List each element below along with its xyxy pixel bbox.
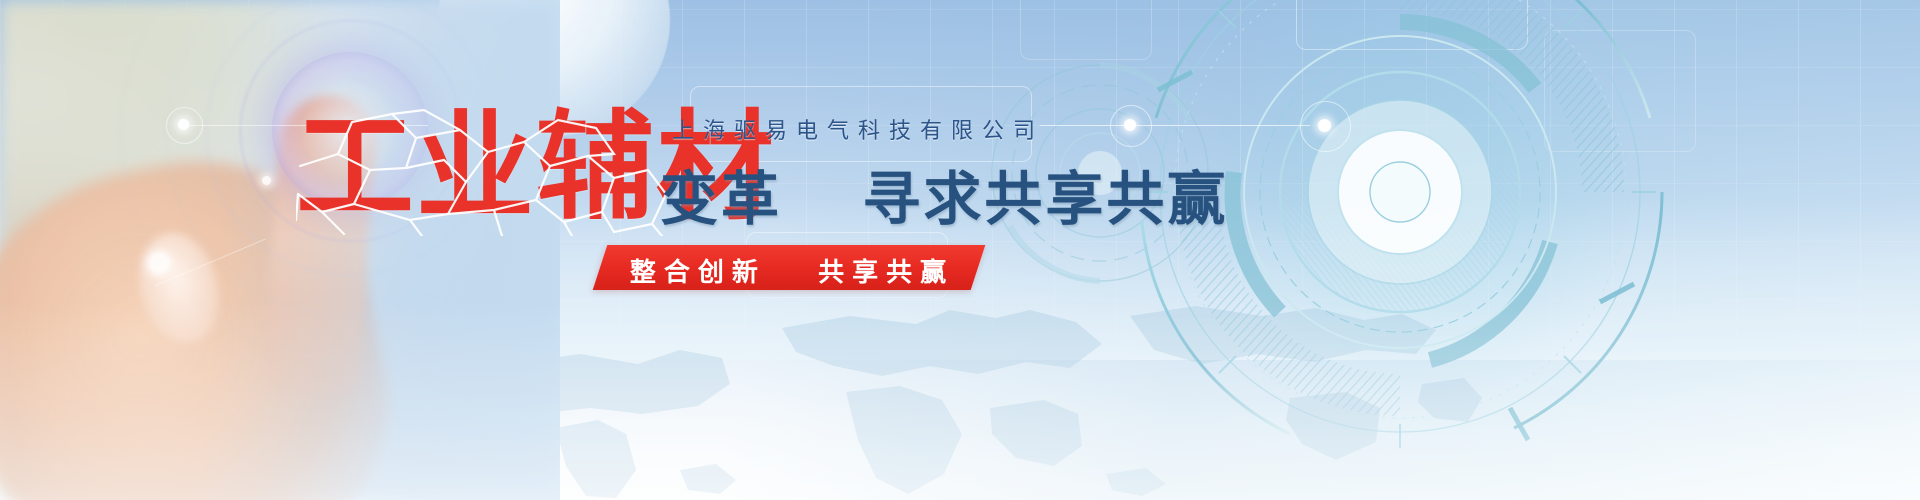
company-name: 上海驱易电气科技有限公司 — [672, 113, 1044, 145]
hero-banner: 工业辅材 上海驱易电气科技有限公司 — [0, 0, 1920, 500]
slogan-part-2: 寻求共享共赢 — [862, 165, 1228, 233]
ribbon-part-1: 整合创新 — [630, 258, 766, 288]
main-slogan: 变革 寻求共享共赢 — [660, 152, 1228, 236]
bottom-haze-overlay — [0, 300, 1920, 500]
slogan-part-1: 变革 — [660, 165, 782, 233]
sub-slogan-text: 整合创新 共享共赢 — [612, 252, 972, 284]
ribbon-part-2: 共享共赢 — [818, 258, 954, 288]
